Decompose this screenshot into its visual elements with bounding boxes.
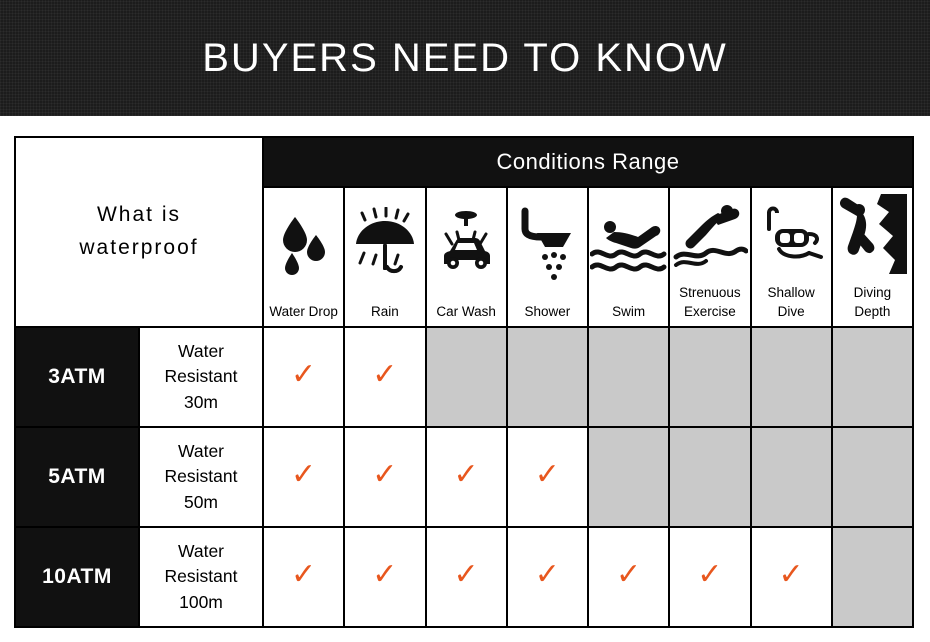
cell-3atm-water-drop: ✓ xyxy=(263,327,344,427)
cell-5atm-water-drop: ✓ xyxy=(263,427,344,527)
corner-title-cell: What is waterproof xyxy=(15,137,263,327)
table-row: 10ATM Water Resistant 100m ✓ ✓ ✓ ✓ ✓ ✓ ✓ xyxy=(15,527,913,627)
cell-10atm-shallow-dive: ✓ xyxy=(751,527,832,627)
cell-5atm-shower: ✓ xyxy=(507,427,588,527)
rating-description: Water Resistant 50m xyxy=(139,427,263,527)
header-banner: BUYERS NEED TO KNOW xyxy=(0,0,930,116)
conditions-range-header: Conditions Range xyxy=(263,137,913,187)
infographic-page: BUYERS NEED TO KNOW What is waterproof C… xyxy=(0,0,930,642)
corner-title-line2: waterproof xyxy=(16,232,262,265)
column-label-strenuous-line2: Exercise xyxy=(684,300,736,320)
check-icon: ✓ xyxy=(454,460,479,490)
column-label-strenuous-line1: Strenuous xyxy=(679,281,741,301)
cell-3atm-swim xyxy=(588,327,669,427)
cell-5atm-swim xyxy=(588,427,669,527)
cell-5atm-shallow-dive xyxy=(751,427,832,527)
umbrella-rain-icon xyxy=(345,188,424,300)
check-icon: ✓ xyxy=(616,560,641,590)
table-row: 3ATM Water Resistant 30m ✓ ✓ xyxy=(15,327,913,427)
cell-5atm-strenuous-exercise xyxy=(669,427,750,527)
column-header-shower: Shower xyxy=(507,187,588,327)
cell-10atm-shower: ✓ xyxy=(507,527,588,627)
cell-3atm-car-wash xyxy=(426,327,507,427)
cell-10atm-diving-depth xyxy=(832,527,913,627)
cliff-diver-icon xyxy=(833,188,912,281)
rating-desc-line2: 30m xyxy=(140,390,262,415)
cell-10atm-car-wash: ✓ xyxy=(426,527,507,627)
cell-10atm-rain: ✓ xyxy=(344,527,425,627)
page-title: BUYERS NEED TO KNOW xyxy=(202,36,728,81)
column-label-shower: Shower xyxy=(524,300,570,320)
snorkel-mask-icon xyxy=(752,188,831,281)
cell-3atm-shallow-dive xyxy=(751,327,832,427)
column-header-swim: Swim xyxy=(588,187,669,327)
cell-10atm-swim: ✓ xyxy=(588,527,669,627)
check-icon: ✓ xyxy=(291,460,316,490)
water-drop-icon xyxy=(264,188,343,300)
column-label-shallow-line2: Dive xyxy=(778,300,805,320)
table-row: 5ATM Water Resistant 50m ✓ ✓ ✓ ✓ xyxy=(15,427,913,527)
rating-desc-line1: Water Resistant xyxy=(140,439,262,490)
check-icon: ✓ xyxy=(535,560,560,590)
diver-jump-icon xyxy=(670,188,749,281)
column-header-rain: Rain xyxy=(344,187,425,327)
cell-5atm-rain: ✓ xyxy=(344,427,425,527)
rating-badge: 5ATM xyxy=(15,427,139,527)
column-header-diving-depth: Diving Depth xyxy=(832,187,913,327)
column-header-shallow-dive: Shallow Dive xyxy=(751,187,832,327)
cell-10atm-strenuous-exercise: ✓ xyxy=(669,527,750,627)
rating-desc-line1: Water Resistant xyxy=(140,539,262,590)
cell-10atm-water-drop: ✓ xyxy=(263,527,344,627)
check-icon: ✓ xyxy=(535,460,560,490)
cell-5atm-car-wash: ✓ xyxy=(426,427,507,527)
check-icon: ✓ xyxy=(372,460,397,490)
column-header-water-drop: Water Drop xyxy=(263,187,344,327)
table-header-band-row: What is waterproof Conditions Range xyxy=(15,137,913,187)
column-label-rain: Rain xyxy=(371,300,399,320)
waterproof-table: What is waterproof Conditions Range xyxy=(14,136,914,628)
cell-3atm-rain: ✓ xyxy=(344,327,425,427)
check-icon: ✓ xyxy=(372,360,397,390)
check-icon: ✓ xyxy=(372,560,397,590)
check-icon: ✓ xyxy=(779,560,804,590)
column-label-swim: Swim xyxy=(612,300,645,320)
check-icon: ✓ xyxy=(454,560,479,590)
column-header-strenuous-exercise: Strenuous Exercise xyxy=(669,187,750,327)
column-header-car-wash: Car Wash xyxy=(426,187,507,327)
column-label-diving-line1: Diving xyxy=(854,281,892,301)
check-icon: ✓ xyxy=(291,560,316,590)
rating-description: Water Resistant 30m xyxy=(139,327,263,427)
check-icon: ✓ xyxy=(697,560,722,590)
rating-desc-line2: 50m xyxy=(140,490,262,515)
swimmer-icon xyxy=(589,188,668,300)
column-label-diving-line2: Depth xyxy=(854,300,890,320)
check-icon: ✓ xyxy=(291,360,316,390)
rating-description: Water Resistant 100m xyxy=(139,527,263,627)
cell-3atm-shower xyxy=(507,327,588,427)
corner-title-line1: What is xyxy=(16,199,262,232)
rating-badge: 10ATM xyxy=(15,527,139,627)
rating-desc-line2: 100m xyxy=(140,590,262,615)
cell-3atm-diving-depth xyxy=(832,327,913,427)
rating-badge: 3ATM xyxy=(15,327,139,427)
column-label-water-drop: Water Drop xyxy=(269,300,338,320)
waterproof-matrix: What is waterproof Conditions Range xyxy=(14,136,914,624)
rating-desc-line1: Water Resistant xyxy=(140,339,262,390)
shower-icon xyxy=(508,188,587,300)
cell-5atm-diving-depth xyxy=(832,427,913,527)
car-wash-icon xyxy=(427,188,506,300)
column-label-shallow-line1: Shallow xyxy=(767,281,814,301)
cell-3atm-strenuous-exercise xyxy=(669,327,750,427)
column-label-car-wash: Car Wash xyxy=(436,300,496,320)
